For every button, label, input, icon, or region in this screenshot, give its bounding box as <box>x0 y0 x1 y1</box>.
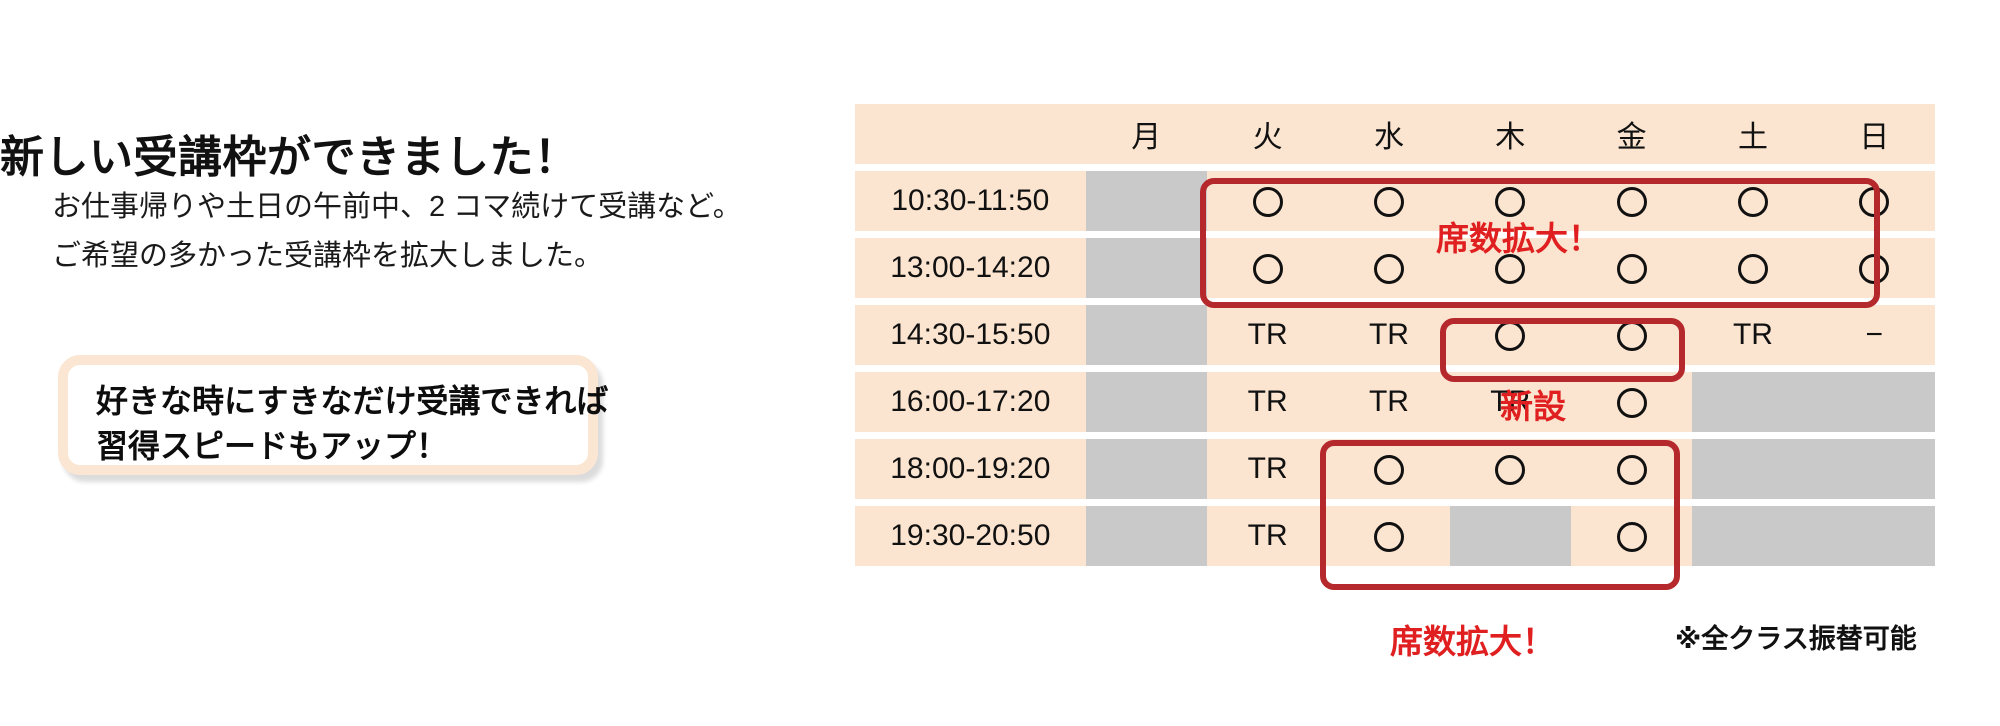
header-day-sat: 土 <box>1692 104 1813 164</box>
available-circle-icon <box>1374 254 1404 284</box>
schedule-row: 14:30-15:50TRTRTR− <box>855 305 1935 365</box>
slot-cell-sun <box>1814 439 1935 499</box>
slot-cell-sun: − <box>1814 305 1935 365</box>
slot-cell-sat <box>1692 238 1813 298</box>
footnote-transfer-note: ※全クラス振替可能 <box>1675 617 1917 656</box>
schedule-row: 18:00-19:20TR <box>855 439 1935 499</box>
row-time-label: 13:00-14:20 <box>855 238 1086 298</box>
header-day-wed: 水 <box>1328 104 1449 164</box>
available-circle-icon <box>1374 455 1404 485</box>
slot-cell-sun <box>1814 238 1935 298</box>
slot-cell-tue <box>1207 238 1328 298</box>
header-day-tue: 火 <box>1207 104 1328 164</box>
schedule-table: 月 火 水 木 金 土 日 10:30-11:5013:00-14:2014:3… <box>855 97 1935 573</box>
available-circle-icon <box>1617 522 1647 552</box>
annotation-label-expand-bottom: 席数拡大！ <box>1390 615 1555 663</box>
schedule-row: 16:00-17:20TRTRTR <box>855 372 1935 432</box>
slot-cell-mon <box>1086 439 1207 499</box>
header-day-thu: 木 <box>1450 104 1571 164</box>
lead-line-2: ご希望の多かった受講枠を拡大しました。 <box>52 232 742 281</box>
slot-cell-sat <box>1692 171 1813 231</box>
header-day-fri: 金 <box>1571 104 1692 164</box>
slot-cell-sat <box>1692 506 1813 566</box>
schedule-row: 19:30-20:50TR <box>855 506 1935 566</box>
row-time-label: 10:30-11:50 <box>855 171 1086 231</box>
slot-cell-mon <box>1086 372 1207 432</box>
slot-cell-mon <box>1086 305 1207 365</box>
slot-cell-wed: TR <box>1328 372 1449 432</box>
schedule-row: 10:30-11:50 <box>855 171 1935 231</box>
slot-cell-wed <box>1328 439 1449 499</box>
available-circle-icon <box>1495 321 1525 351</box>
lead-line-1: お仕事帰りや土日の午前中、2 コマ続けて受講など。 <box>52 183 742 232</box>
header-time-col <box>855 104 1086 164</box>
slot-cell-sun <box>1814 171 1935 231</box>
callout-line-2: 習得スピードもアップ！ <box>96 424 608 469</box>
schedule-header-row: 月 火 水 木 金 土 日 <box>855 104 1935 164</box>
left-info-panel: 新しい受講枠ができました！ お仕事帰りや土日の午前中、2 コマ続けて受講など。 … <box>0 0 840 726</box>
schedule-body: 10:30-11:5013:00-14:2014:30-15:50TRTRTR−… <box>855 171 1935 566</box>
available-circle-icon <box>1617 321 1647 351</box>
available-circle-icon <box>1253 254 1283 284</box>
available-circle-icon <box>1738 254 1768 284</box>
annotation-label-expand-top: 席数拡大！ <box>1436 212 1601 260</box>
slot-cell-thu <box>1450 439 1571 499</box>
slot-cell-sat <box>1692 372 1813 432</box>
available-circle-icon <box>1617 455 1647 485</box>
annotation-label-new: 新設 <box>1500 380 1566 428</box>
available-circle-icon <box>1859 187 1889 217</box>
header-day-mon: 月 <box>1086 104 1207 164</box>
slot-cell-sat: TR <box>1692 305 1813 365</box>
row-time-label: 14:30-15:50 <box>855 305 1086 365</box>
slot-cell-tue: TR <box>1207 506 1328 566</box>
available-circle-icon <box>1495 455 1525 485</box>
available-circle-icon <box>1374 522 1404 552</box>
available-circle-icon <box>1253 187 1283 217</box>
slot-cell-thu <box>1450 506 1571 566</box>
slot-cell-sun <box>1814 506 1935 566</box>
header-day-sun: 日 <box>1814 104 1935 164</box>
slot-cell-mon <box>1086 238 1207 298</box>
page-title: 新しい受講枠ができました！ <box>0 121 579 185</box>
slot-cell-fri <box>1571 506 1692 566</box>
slot-cell-fri <box>1571 372 1692 432</box>
slot-cell-wed <box>1328 506 1449 566</box>
callout-text: 好きな時にすきなだけ受講できれば 習得スピードもアップ！ <box>96 379 608 469</box>
available-circle-icon <box>1374 187 1404 217</box>
row-time-label: 19:30-20:50 <box>855 506 1086 566</box>
slot-cell-sat <box>1692 439 1813 499</box>
slot-cell-tue <box>1207 171 1328 231</box>
available-circle-icon <box>1617 388 1647 418</box>
callout-box: 好きな時にすきなだけ受講できれば 習得スピードもアップ！ <box>58 355 598 475</box>
slot-cell-fri <box>1571 439 1692 499</box>
slot-cell-mon <box>1086 171 1207 231</box>
slot-cell-wed <box>1328 238 1449 298</box>
lead-paragraph: お仕事帰りや土日の午前中、2 コマ続けて受講など。 ご希望の多かった受講枠を拡大… <box>52 183 742 281</box>
slot-cell-sun <box>1814 372 1935 432</box>
available-circle-icon <box>1738 187 1768 217</box>
available-circle-icon <box>1617 254 1647 284</box>
slot-cell-wed <box>1328 171 1449 231</box>
slot-cell-tue: TR <box>1207 439 1328 499</box>
slot-cell-tue: TR <box>1207 372 1328 432</box>
row-time-label: 18:00-19:20 <box>855 439 1086 499</box>
row-time-label: 16:00-17:20 <box>855 372 1086 432</box>
schedule-row: 13:00-14:20 <box>855 238 1935 298</box>
slot-cell-mon <box>1086 506 1207 566</box>
slot-cell-fri <box>1571 305 1692 365</box>
slot-cell-wed: TR <box>1328 305 1449 365</box>
callout-line-1: 好きな時にすきなだけ受講できれば <box>96 379 608 424</box>
schedule-table-container: 月 火 水 木 金 土 日 10:30-11:5013:00-14:2014:3… <box>855 97 1935 573</box>
available-circle-icon <box>1617 187 1647 217</box>
available-circle-icon <box>1859 254 1889 284</box>
slot-cell-tue: TR <box>1207 305 1328 365</box>
slot-cell-thu <box>1450 305 1571 365</box>
